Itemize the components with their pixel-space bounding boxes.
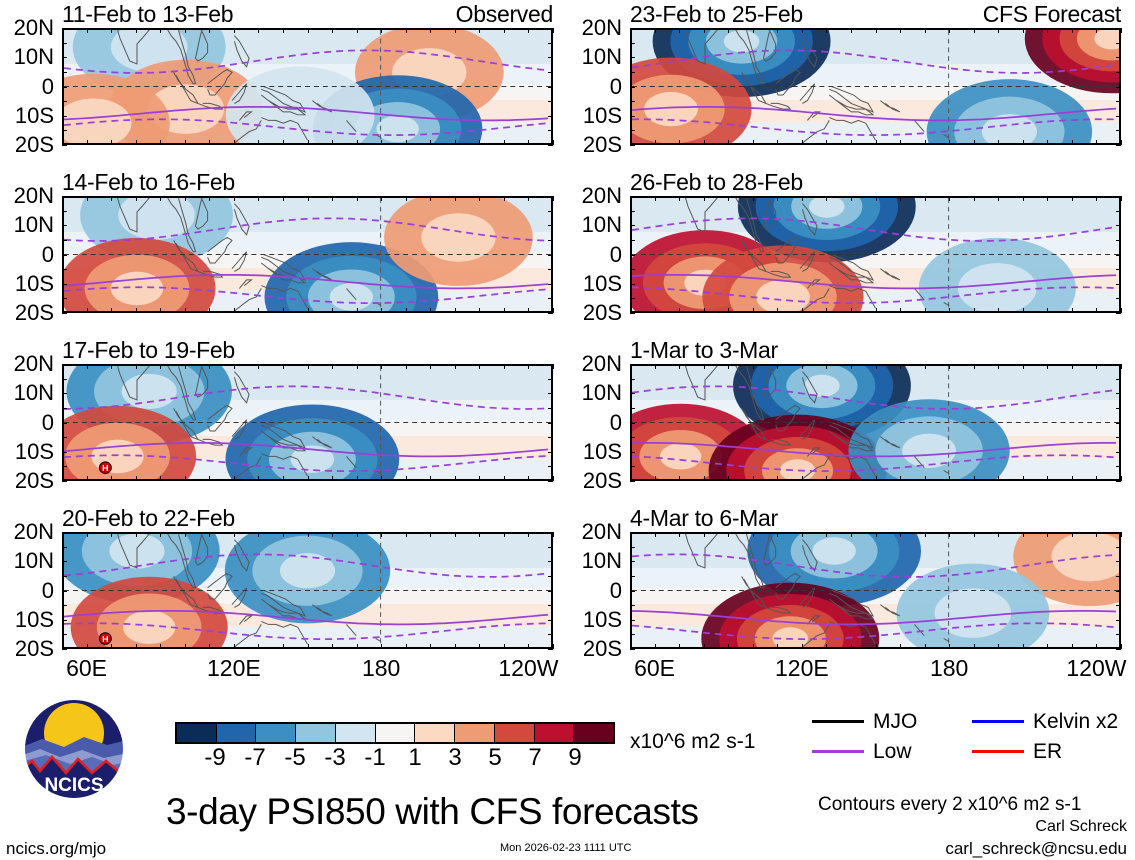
axis-tick [630, 145, 635, 146]
axis-tick [998, 196, 999, 201]
axis-tick [630, 284, 635, 285]
axis-tick [548, 313, 553, 314]
axis-tick [1116, 591, 1121, 592]
y-axis-labels: 20N10N010S20S [568, 28, 630, 145]
axis-tick [630, 225, 635, 226]
axis-tick [111, 476, 112, 481]
axis-tick [548, 591, 553, 592]
axis-tick [1116, 379, 1121, 380]
y-axis-tick-label: 10S [583, 609, 622, 631]
axis-tick [209, 364, 210, 369]
axis-tick [548, 364, 553, 365]
axis-tick [630, 423, 635, 424]
axis-tick [62, 393, 67, 394]
axis-tick [430, 196, 431, 201]
axis-tick [62, 408, 67, 409]
axis-tick [528, 476, 529, 481]
axis-tick [679, 532, 680, 537]
axis-tick [209, 196, 210, 201]
axis-tick [1096, 308, 1097, 313]
axis-tick [308, 364, 309, 369]
axis-tick [630, 72, 635, 73]
axis-tick [62, 576, 67, 577]
axis-tick [185, 364, 186, 369]
axis-tick [900, 28, 901, 33]
axis-tick [62, 532, 67, 533]
axis-tick [876, 532, 877, 537]
axis-tick [160, 28, 161, 33]
axis-tick [160, 140, 161, 145]
axis-tick [62, 57, 67, 58]
y-axis-tick-label: 0 [610, 580, 622, 602]
contour-interval-note: Contours every 2 x10^6 m2 s-1 [818, 795, 1081, 814]
axis-tick [258, 28, 259, 33]
axis-tick [406, 308, 407, 313]
axis-tick [1116, 437, 1121, 438]
x-axis-tick-label: 60E [66, 657, 107, 680]
axis-tick [704, 476, 705, 481]
axis-tick [1116, 130, 1121, 131]
y-axis-labels: 20N10N010S20S [0, 28, 62, 145]
axis-tick [1121, 308, 1122, 313]
axis-tick [900, 364, 901, 369]
axis-tick [630, 313, 635, 314]
axis-tick [679, 28, 680, 33]
colorbar-swatch [256, 724, 296, 742]
y-axis-tick-label: 0 [610, 412, 622, 434]
axis-tick [185, 196, 186, 201]
axis-tick [258, 196, 259, 201]
axis-tick [136, 364, 137, 369]
legend-row: MJO Kelvin x2 [812, 706, 1132, 736]
axis-tick [826, 140, 827, 145]
axis-tick [1116, 57, 1121, 58]
y-axis-labels: 20N10N010S20S [0, 196, 62, 313]
panel-title: 20-Feb to 22-Feb [62, 507, 235, 530]
axis-tick [655, 28, 656, 33]
axis-tick [430, 28, 431, 33]
axis-tick [998, 28, 999, 33]
axis-tick [1023, 476, 1024, 481]
colorbar-tick-label: -7 [244, 746, 265, 770]
axis-tick [630, 116, 635, 117]
axis-tick [62, 130, 67, 131]
axis-tick [630, 298, 635, 299]
axis-tick [1116, 225, 1121, 226]
axis-tick [704, 532, 705, 537]
axis-tick [1023, 28, 1024, 33]
axis-tick [160, 476, 161, 481]
axis-tick [630, 532, 635, 533]
axis-tick [185, 28, 186, 33]
axis-tick [630, 211, 635, 212]
axis-tick [1121, 140, 1122, 145]
axis-tick [851, 364, 852, 369]
axis-tick [876, 476, 877, 481]
axis-tick [1047, 140, 1048, 145]
axis-tick [283, 364, 284, 369]
axis-tick [62, 561, 67, 562]
axis-tick [826, 476, 827, 481]
colorbar-swatch [574, 724, 613, 742]
author-email: carl_schreck@ncsu.edu [945, 840, 1127, 857]
author-name: Carl Schreck [1035, 819, 1127, 835]
axis-tick [62, 423, 67, 424]
axis-tick [258, 532, 259, 537]
axis-tick [826, 196, 827, 201]
legend-item-low: Low [812, 741, 972, 762]
axis-tick [160, 308, 161, 313]
axis-tick [925, 28, 926, 33]
axis-tick [1072, 140, 1073, 145]
y-axis-labels: 20N10N010S20S [568, 196, 630, 313]
axis-tick [974, 28, 975, 33]
axis-tick [630, 379, 635, 380]
axis-tick [87, 532, 88, 537]
axis-tick [1023, 196, 1024, 201]
map-area: H [62, 364, 553, 481]
x-axis-tick-label: 60E [634, 657, 675, 680]
axis-tick [630, 196, 635, 197]
axis-tick [136, 308, 137, 313]
axis-tick [1072, 364, 1073, 369]
colorbar-tick-label: -1 [364, 746, 385, 770]
axis-tick [87, 28, 88, 33]
axis-tick [62, 452, 67, 453]
axis-tick [62, 101, 67, 102]
axis-tick [553, 308, 554, 313]
axis-tick [655, 196, 656, 201]
axis-tick [528, 196, 529, 201]
axis-tick [630, 561, 635, 562]
axis-tick [925, 308, 926, 313]
axis-tick [630, 87, 635, 88]
y-axis-tick-label: 20N [582, 185, 622, 207]
colorbar-tick-label: -3 [324, 746, 345, 770]
axis-tick [728, 140, 729, 145]
axis-tick [283, 140, 284, 145]
mjo-line-icon [812, 720, 864, 723]
axis-tick [258, 476, 259, 481]
axis-tick [876, 140, 877, 145]
generation-timestamp: Mon 2026-02-23 1111 UTC [500, 843, 631, 854]
axis-tick [87, 476, 88, 481]
svg-text:H: H [102, 463, 108, 473]
svg-text:H: H [102, 634, 108, 644]
axis-tick [1116, 364, 1121, 365]
low-line-icon [812, 750, 864, 753]
panel-title: 4-Mar to 6-Mar [630, 507, 778, 530]
axis-tick [455, 140, 456, 145]
axis-tick [62, 196, 67, 197]
x-axis-tick-label: 120W [498, 657, 558, 680]
axis-tick [381, 140, 382, 145]
axis-tick [826, 28, 827, 33]
axis-tick [185, 532, 186, 537]
axis-tick [1096, 532, 1097, 537]
x-axis-tick-label: 120E [775, 657, 829, 680]
axis-tick [111, 28, 112, 33]
axis-tick [62, 87, 67, 88]
axis-tick [504, 364, 505, 369]
axis-tick [308, 476, 309, 481]
axis-tick [548, 57, 553, 58]
axis-tick [455, 364, 456, 369]
axis-tick [753, 532, 754, 537]
map-panel: 14-Feb to 16-Feb20N10N010S20S [62, 196, 553, 313]
axis-tick [430, 476, 431, 481]
legend-item-kelvin: Kelvin x2 [972, 711, 1132, 732]
axis-tick [655, 308, 656, 313]
axis-tick [87, 196, 88, 201]
legend-item-er: ER [972, 741, 1132, 762]
axis-tick [548, 605, 553, 606]
storm-symbol: H [99, 633, 111, 645]
y-axis-tick-label: 10N [582, 550, 622, 572]
axis-tick [111, 308, 112, 313]
axis-tick [406, 532, 407, 537]
axis-tick [308, 532, 309, 537]
y-axis-tick-label: 20S [15, 134, 54, 156]
legend-label-low: Low [873, 741, 912, 762]
axis-tick [753, 140, 754, 145]
axis-tick [1121, 644, 1122, 649]
axis-tick [1116, 393, 1121, 394]
axis-tick [160, 196, 161, 201]
y-axis-tick-label: 20S [583, 134, 622, 156]
axis-tick [308, 196, 309, 201]
axis-tick [283, 476, 284, 481]
x-axis-tick-label: 120E [207, 657, 261, 680]
axis-tick [704, 28, 705, 33]
axis-tick [548, 225, 553, 226]
axis-tick [62, 313, 67, 314]
axis-tick [630, 452, 635, 453]
axis-tick [679, 140, 680, 145]
y-axis-tick-label: 10S [583, 105, 622, 127]
axis-tick [308, 308, 309, 313]
colorbar-swatch [217, 724, 257, 742]
axis-tick [548, 196, 553, 197]
axis-tick [802, 28, 803, 33]
axis-tick [1121, 364, 1122, 369]
map-panel: 4-Mar to 6-Mar20N10N010S20S60E120E180120… [630, 532, 1121, 649]
axis-tick [62, 145, 67, 146]
axis-tick [704, 364, 705, 369]
y-axis-tick-label: 10N [582, 46, 622, 68]
axis-tick [1116, 452, 1121, 453]
legend-label-er: ER [1033, 741, 1062, 762]
x-axis-tick-label: 180 [362, 657, 400, 680]
axis-tick [1116, 532, 1121, 533]
axis-tick [528, 140, 529, 145]
axis-tick [974, 532, 975, 537]
axis-tick [479, 196, 480, 201]
axis-tick [753, 28, 754, 33]
axis-tick [62, 379, 67, 380]
axis-tick [62, 284, 67, 285]
x-axis-labels: 60E120E180120W [62, 649, 553, 683]
axis-tick [332, 140, 333, 145]
axis-tick [553, 28, 554, 33]
axis-tick [332, 532, 333, 537]
map-area [630, 196, 1121, 313]
axis-tick [876, 28, 877, 33]
axis-tick [1116, 576, 1121, 577]
y-axis-tick-label: 0 [42, 244, 54, 266]
axis-tick [62, 211, 67, 212]
axis-tick [728, 532, 729, 537]
kelvin-line-icon [972, 720, 1024, 723]
axis-tick [111, 532, 112, 537]
axis-tick [728, 364, 729, 369]
axis-tick [1047, 532, 1048, 537]
axis-tick [87, 308, 88, 313]
axis-tick [62, 437, 67, 438]
y-axis-tick-label: 20S [15, 302, 54, 324]
axis-tick [548, 255, 553, 256]
axis-tick [553, 364, 554, 369]
axis-tick [630, 364, 635, 365]
axis-tick [548, 284, 553, 285]
legend-item-mjo: MJO [812, 711, 972, 732]
axis-tick [553, 532, 554, 537]
axis-tick [357, 364, 358, 369]
axis-tick [925, 364, 926, 369]
axis-tick [851, 476, 852, 481]
axis-tick [381, 476, 382, 481]
axis-tick [777, 196, 778, 201]
axis-tick [1116, 423, 1121, 424]
axis-tick [504, 196, 505, 201]
y-axis-tick-label: 10N [14, 46, 54, 68]
axis-tick [949, 476, 950, 481]
axis-tick [62, 43, 67, 44]
axis-tick [504, 28, 505, 33]
axis-tick [553, 476, 554, 481]
axis-tick [1096, 196, 1097, 201]
axis-tick [630, 620, 635, 621]
axis-tick [1116, 145, 1121, 146]
colorbar-swatch [177, 724, 217, 742]
y-axis-tick-label: 20N [14, 353, 54, 375]
x-axis-labels: 60E120E180120W [630, 649, 1121, 683]
axis-tick [87, 364, 88, 369]
colorbar-ticklabels: -9-7-5-3-113579 [175, 744, 615, 772]
y-axis-labels: 20N10N010S20S [0, 364, 62, 481]
axis-tick [62, 591, 67, 592]
axis-tick [802, 140, 803, 145]
colorbar-tick-label: 1 [408, 746, 421, 770]
axis-tick [998, 140, 999, 145]
axis-tick [753, 476, 754, 481]
map-area [630, 532, 1121, 649]
legend-label-mjo: MJO [873, 711, 917, 732]
axis-tick [87, 140, 88, 145]
axis-tick [406, 476, 407, 481]
axis-tick [998, 364, 999, 369]
axis-tick [234, 364, 235, 369]
axis-tick [630, 255, 635, 256]
axis-tick [548, 452, 553, 453]
axis-tick [630, 605, 635, 606]
x-axis-tick-label: 120W [1066, 657, 1126, 680]
panel-title: 23-Feb to 25-Feb [630, 3, 803, 26]
axis-tick [679, 364, 680, 369]
axis-tick [728, 476, 729, 481]
axis-tick [802, 476, 803, 481]
y-axis-tick-label: 10N [14, 214, 54, 236]
y-axis-tick-label: 10S [15, 105, 54, 127]
axis-tick [406, 140, 407, 145]
axis-tick [548, 423, 553, 424]
axis-tick [876, 196, 877, 201]
axis-tick [826, 364, 827, 369]
axis-tick [258, 364, 259, 369]
y-axis-tick-label: 20N [14, 521, 54, 543]
axis-tick [209, 476, 210, 481]
axis-tick [136, 532, 137, 537]
y-axis-tick-label: 10S [583, 441, 622, 463]
axis-tick [528, 28, 529, 33]
axis-tick [548, 532, 553, 533]
axis-tick [548, 240, 553, 241]
contour-legend: MJO Kelvin x2 Low ER [812, 706, 1132, 766]
axis-tick [111, 140, 112, 145]
axis-tick [357, 196, 358, 201]
panel-corner-label: Observed [456, 3, 553, 26]
axis-tick [998, 308, 999, 313]
colorbar-swatch [535, 724, 575, 742]
axis-tick [332, 364, 333, 369]
axis-tick [1116, 634, 1121, 635]
axis-tick [62, 225, 67, 226]
panel-title: 17-Feb to 19-Feb [62, 339, 235, 362]
map-panel: 17-Feb to 19-FebH20N10N010S20S [62, 364, 553, 481]
axis-tick [1023, 140, 1024, 145]
axis-tick [62, 481, 67, 482]
axis-tick [1096, 476, 1097, 481]
legend-label-kelvin: Kelvin x2 [1033, 711, 1118, 732]
axis-tick [1116, 620, 1121, 621]
axis-tick [900, 196, 901, 201]
axis-tick [655, 476, 656, 481]
axis-tick [548, 269, 553, 270]
axis-tick [949, 196, 950, 201]
axis-tick [1116, 101, 1121, 102]
axis-tick [381, 308, 382, 313]
axis-tick [655, 140, 656, 145]
axis-tick [357, 532, 358, 537]
axis-tick [1072, 196, 1073, 201]
x-axis-tick-label: 180 [930, 657, 968, 680]
colorbar-swatches [175, 722, 615, 744]
axis-tick [630, 481, 635, 482]
y-axis-tick-label: 20S [583, 302, 622, 324]
colorbar-swatch [376, 724, 416, 742]
axis-tick [1116, 298, 1121, 299]
axis-tick [332, 196, 333, 201]
axis-tick [1116, 605, 1121, 606]
axis-tick [258, 308, 259, 313]
y-axis-labels: 20N10N010S20S [0, 532, 62, 649]
axis-tick [753, 308, 754, 313]
axis-tick [357, 140, 358, 145]
axis-tick [283, 28, 284, 33]
panel-title: 11-Feb to 13-Feb [62, 3, 233, 26]
map-area [62, 196, 553, 313]
y-axis-tick-label: 10N [582, 214, 622, 236]
